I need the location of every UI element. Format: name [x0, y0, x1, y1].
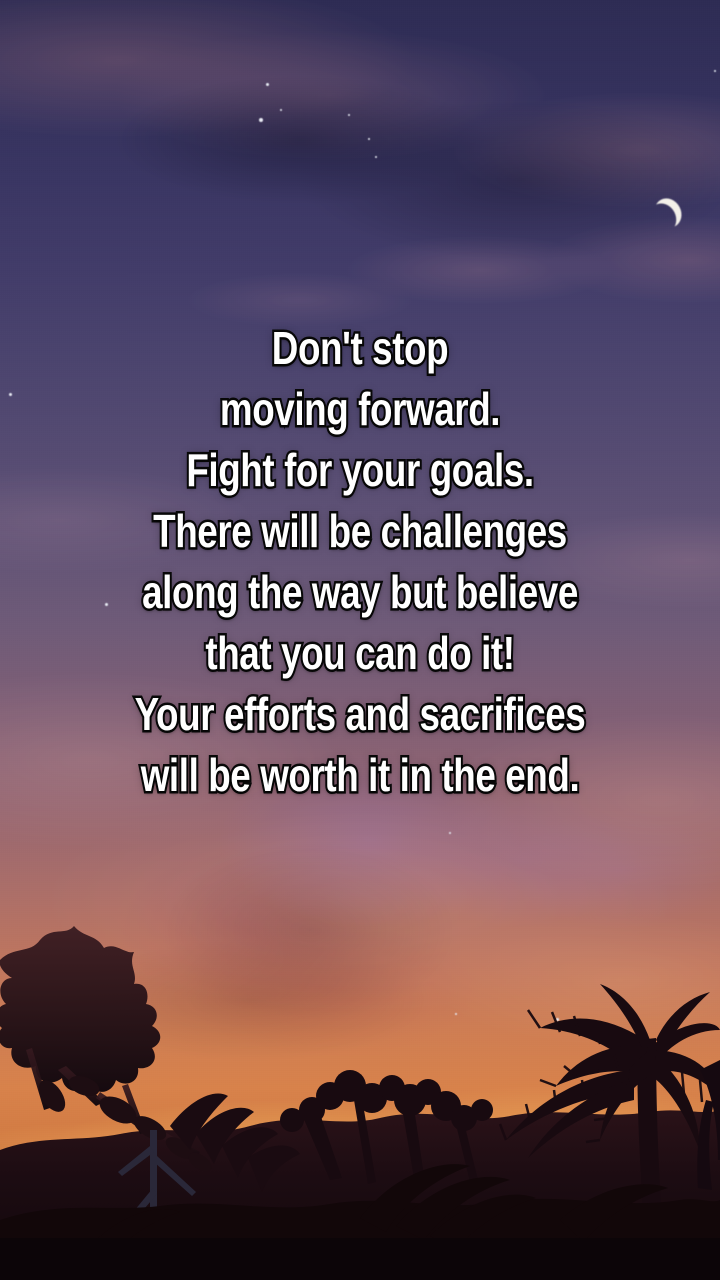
quote-line: There will be challenges: [72, 501, 648, 562]
quote-line: Fight for your goals.: [72, 440, 648, 501]
star-icon: [280, 109, 282, 111]
quote-line: that you can do it!: [72, 623, 648, 684]
star-icon: [259, 118, 263, 122]
quote-line: moving forward.: [72, 379, 648, 440]
star-icon: [266, 83, 269, 86]
quote-line: Don't stop: [72, 318, 648, 379]
quote-line: Your efforts and sacrifices: [72, 684, 648, 745]
quote-line: will be worth it in the end.: [72, 745, 648, 806]
star-icon: [714, 70, 716, 72]
star-icon: [348, 114, 350, 116]
left-tree: [0, 926, 200, 1158]
quote-line: along the way but believe: [72, 562, 648, 623]
foliage-silhouette: [0, 920, 720, 1280]
quote-block: Don't stop moving forward. Fight for you…: [0, 318, 720, 806]
wallpaper-canvas: Don't stop moving forward. Fight for you…: [0, 0, 720, 1280]
star-icon: [375, 156, 377, 158]
star-icon: [449, 832, 451, 834]
star-icon: [368, 138, 370, 140]
